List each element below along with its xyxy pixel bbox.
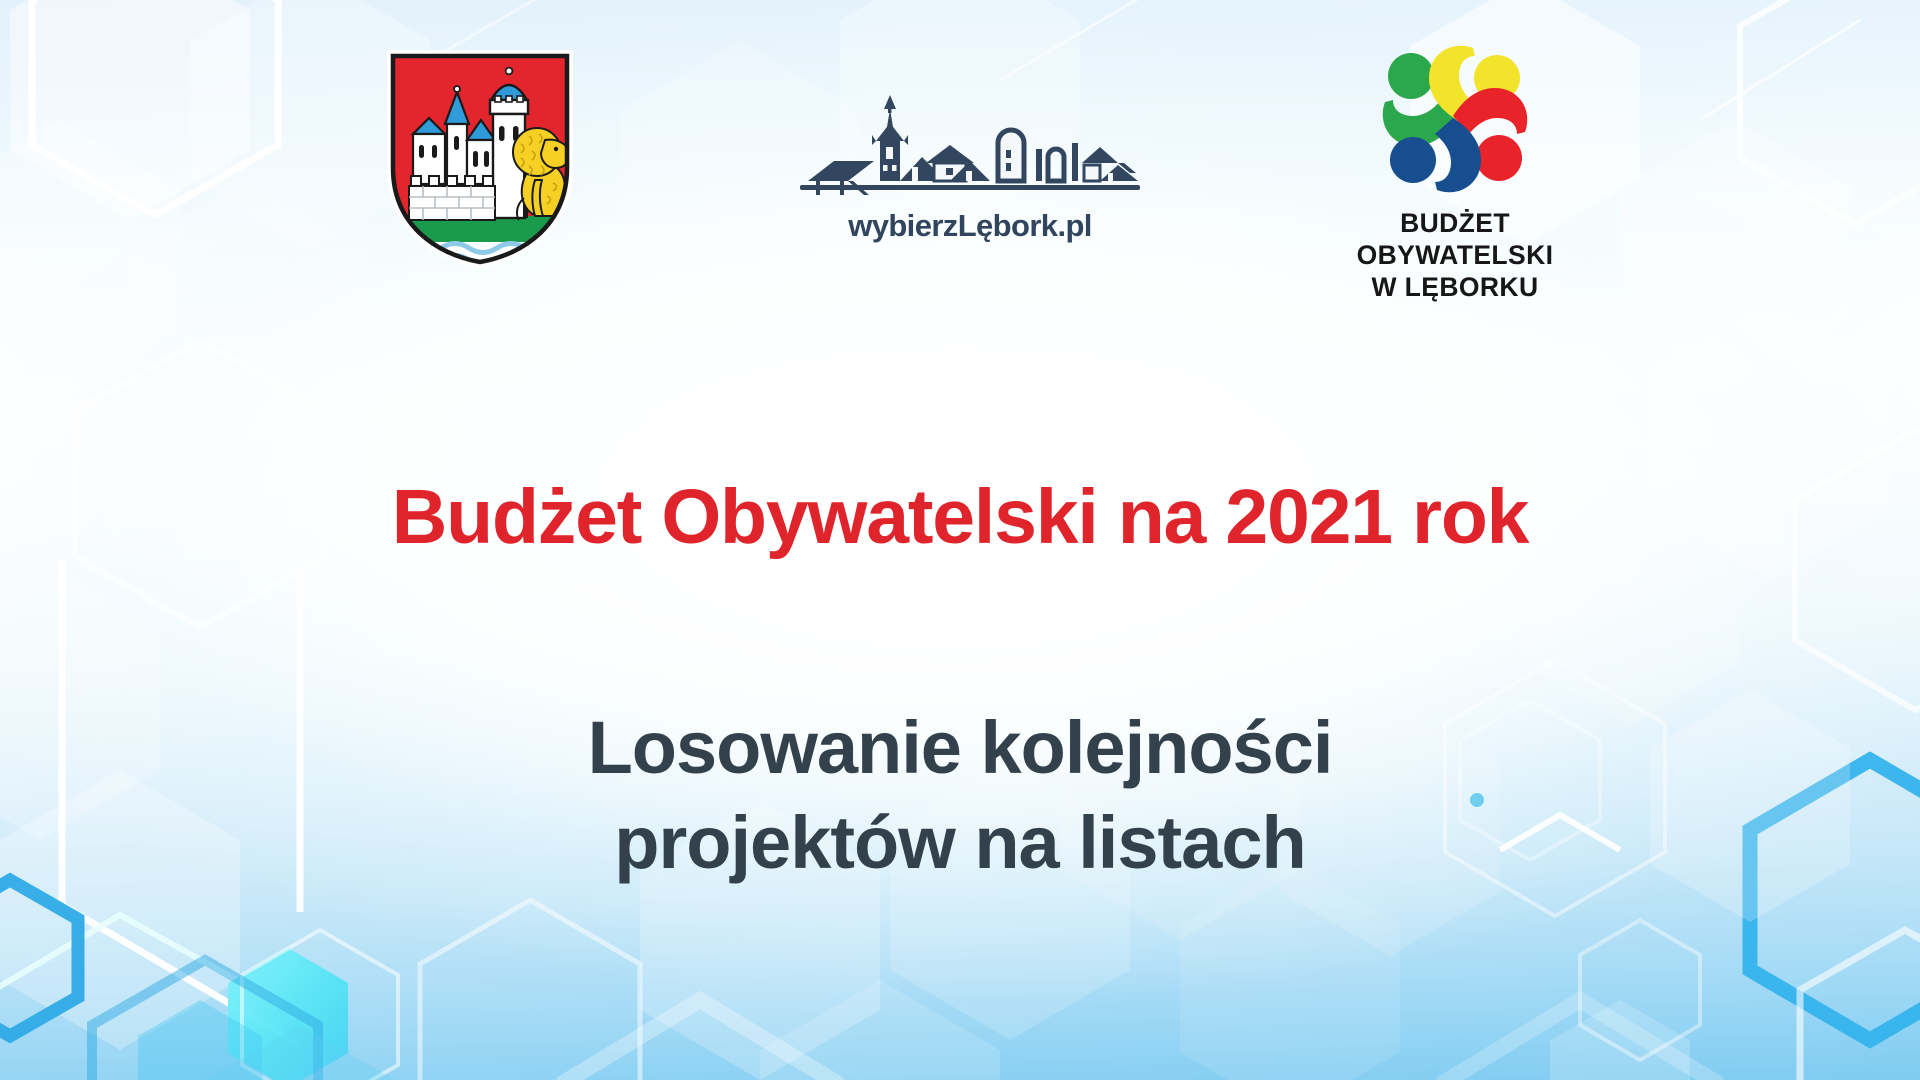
hex-group-bottom-left — [0, 560, 640, 1080]
budzet-line-3: W LĘBORKU — [1320, 271, 1590, 303]
budzet-obywatelski-wordmark: BUDŻET OBYWATELSKI W LĘBORKU — [1320, 207, 1590, 303]
wybierz-lebork-wordmark: wybierzLębork.pl — [800, 208, 1140, 244]
crest-logo — [385, 48, 575, 270]
budzet-line-2: OBYWATELSKI — [1320, 239, 1590, 271]
wybierz-lebork-logo[interactable]: wybierzLębork.pl — [800, 95, 1140, 245]
hex-group-bottom-right — [1060, 660, 1920, 1080]
logo-row: wybierzLębork.pl — [0, 0, 1920, 300]
people-pinwheel-icon — [1320, 36, 1590, 201]
budzet-obywatelski-logo[interactable]: BUDŻET OBYWATELSKI W LĘBORKU — [1320, 36, 1590, 296]
lebork-coat-of-arms-icon — [385, 48, 575, 270]
slide-root: wybierzLębork.pl — [0, 0, 1920, 1080]
budzet-line-1: BUDŻET — [1320, 207, 1590, 239]
city-skyline-icon — [800, 95, 1140, 200]
